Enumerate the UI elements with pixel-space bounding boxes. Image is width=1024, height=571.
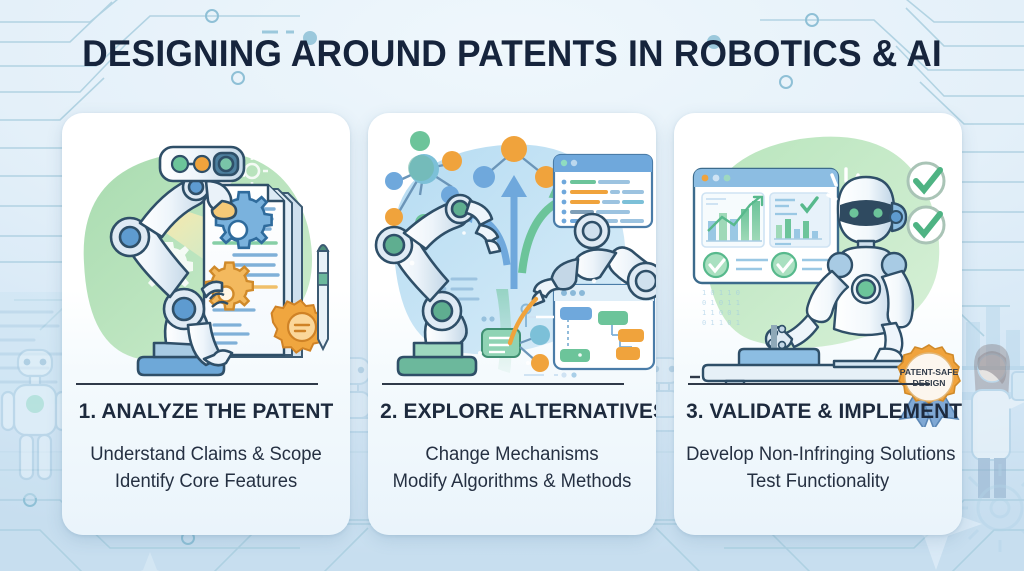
step-text-2: 2. EXPLORE ALTERNATIVES Change Mechanism… <box>376 399 648 495</box>
steps-container: 1. ANALYZE THE PATENT Understand Claims … <box>62 113 962 535</box>
step-detail-line: Test Functionality <box>686 468 950 495</box>
illustration-analyze-the-patent <box>62 113 350 385</box>
card-divider <box>76 383 336 385</box>
badge-line-1: PATENT-SAFE <box>900 367 959 377</box>
infographic-canvas: DESIGNING AROUND PATENTS IN ROBOTICS & A… <box>0 0 1024 571</box>
step-title-2: 2. EXPLORE ALTERNATIVES <box>380 399 644 424</box>
step-text-1: 1. ANALYZE THE PATENT Understand Claims … <box>70 399 342 495</box>
step-card-3[interactable]: 1 0 1 1 0 0 1 0 1 1 1 1 0 0 1 0 1 1 0 1 <box>674 113 962 535</box>
svg-text:0 1 0 1 1: 0 1 0 1 1 <box>702 299 740 307</box>
svg-text:1 0 1 1 0: 1 0 1 1 0 <box>702 289 740 297</box>
step-detail-line: Modify Algorithms & Methods <box>380 468 644 495</box>
illustration-explore-alternatives <box>368 113 656 385</box>
dotted-trace-bottom <box>524 372 577 377</box>
green-check-circle-2 <box>908 207 944 243</box>
pen <box>318 245 328 349</box>
card-divider <box>688 383 948 385</box>
code-window <box>554 155 652 227</box>
step-detail-line: Develop Non-Infringing Solutions <box>686 441 950 468</box>
card-divider <box>382 383 642 385</box>
svg-text:0 1 1 0 1: 0 1 1 0 1 <box>702 319 740 327</box>
step-title-1: 1. ANALYZE THE PATENT <box>74 399 338 424</box>
sparkle-bottom-left <box>125 552 175 571</box>
svg-text:1 1 0 0 1: 1 1 0 0 1 <box>702 309 740 317</box>
step-detail-line: Change Mechanisms <box>380 441 644 468</box>
step-detail-line: Understand Claims & Scope <box>74 441 338 468</box>
step-title-3: 3. VALIDATE & IMPLEMENT <box>686 399 950 424</box>
step-detail-line: Identify Core Features <box>74 468 338 495</box>
dashboard-window <box>694 169 838 283</box>
page-title: DESIGNING AROUND PATENTS IN ROBOTICS & A… <box>23 33 1001 75</box>
green-check-circle-1 <box>908 163 944 199</box>
step-card-2[interactable]: 2. EXPLORE ALTERNATIVES Change Mechanism… <box>368 113 656 535</box>
step-card-1[interactable]: 1. ANALYZE THE PATENT Understand Claims … <box>62 113 350 535</box>
step-text-3: 3. VALIDATE & IMPLEMENT Develop Non-Infr… <box>682 399 954 495</box>
